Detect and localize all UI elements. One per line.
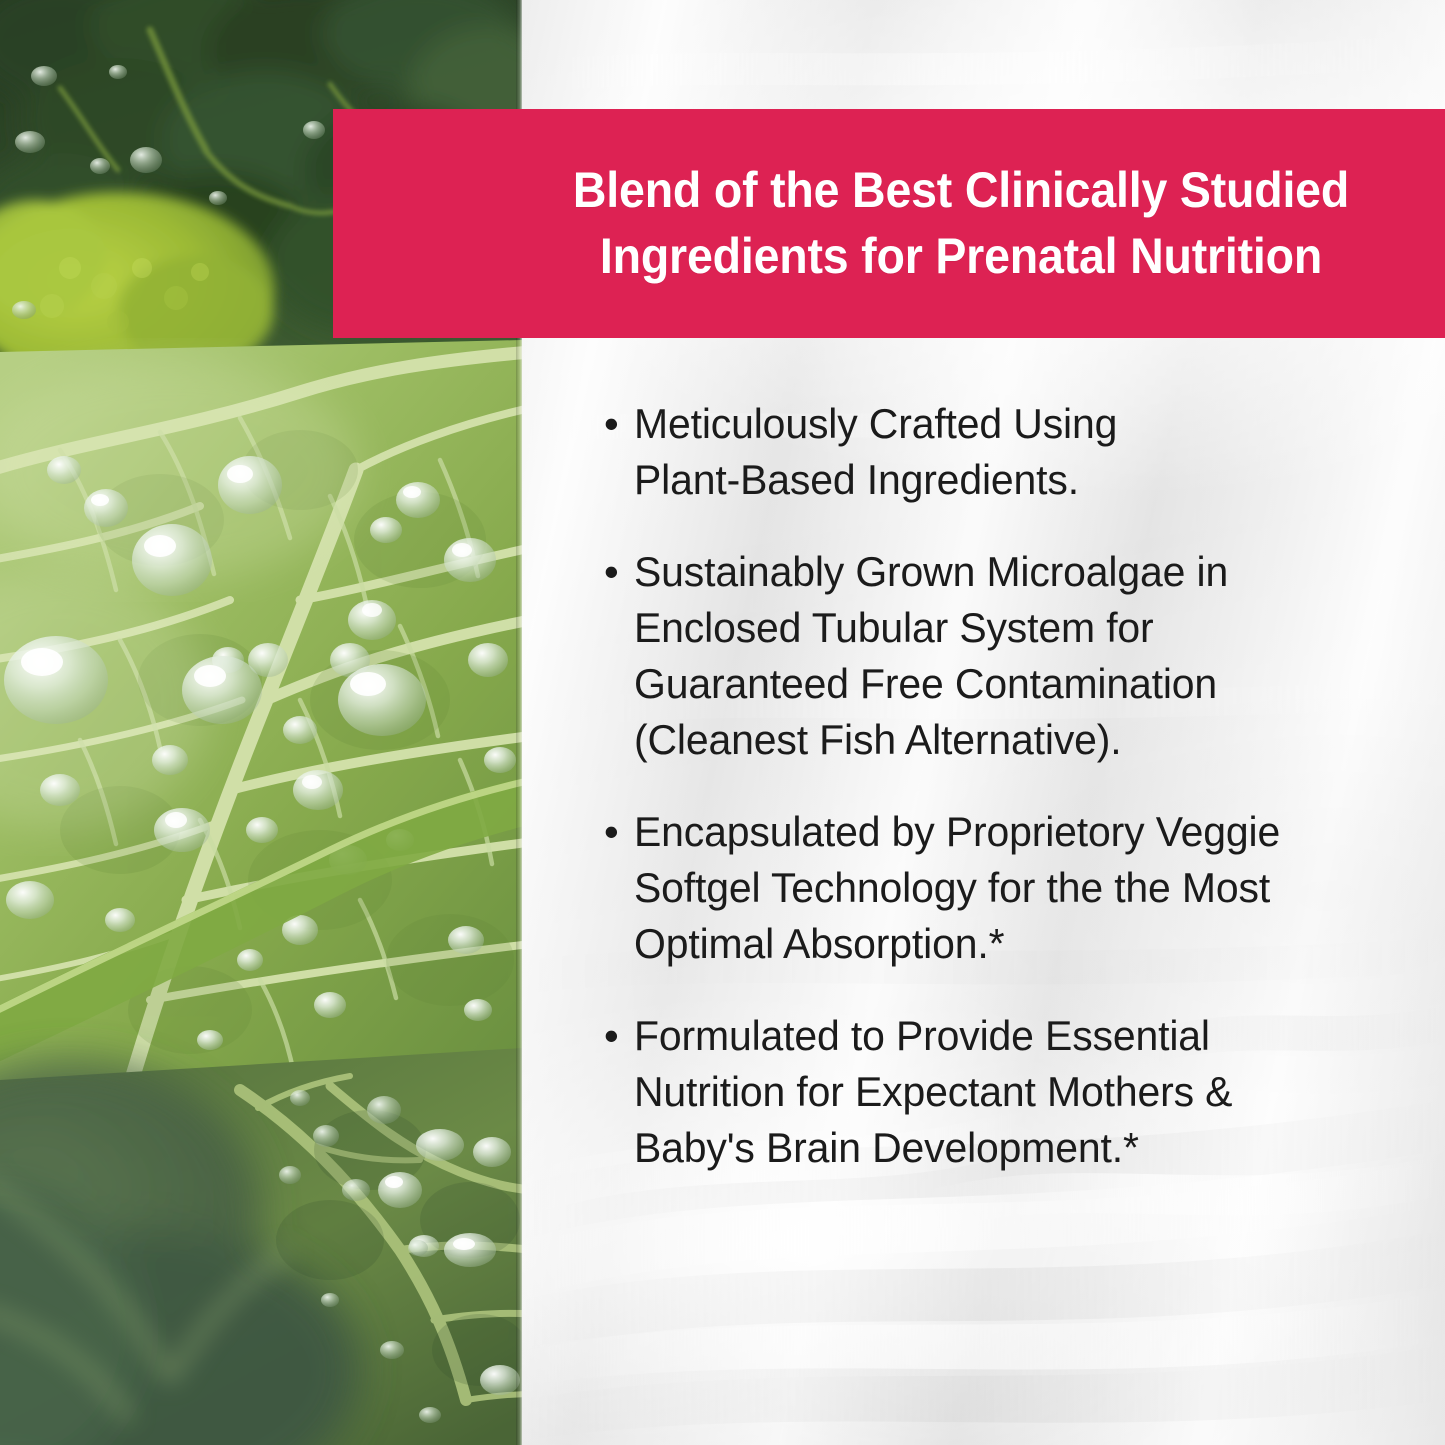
list-item-text: Encapsulated by Proprietory Veggie Softg… xyxy=(634,804,1385,972)
headline-banner: Blend of the Best Clinically Studied Ing… xyxy=(333,109,1445,338)
infographic-canvas: Blend of the Best Clinically Studied Ing… xyxy=(0,0,1445,1445)
bullet-marker-icon: • xyxy=(604,804,634,860)
list-item-text: Sustainably Grown Microalgae in Enclosed… xyxy=(634,544,1385,768)
list-item: • Encapsulated by Proprietory Veggie Sof… xyxy=(604,804,1404,972)
bullet-marker-icon: • xyxy=(604,1008,634,1064)
bullet-marker-icon: • xyxy=(604,396,634,452)
headline-title: Blend of the Best Clinically Studied Ing… xyxy=(552,158,1370,289)
list-item: • Sustainably Grown Microalgae in Enclos… xyxy=(604,544,1404,768)
list-item: • Formulated to Provide Essential Nutrit… xyxy=(604,1008,1404,1176)
benefits-bullet-list: • Meticulously Crafted Using Plant-Based… xyxy=(604,396,1404,1176)
list-item: • Meticulously Crafted Using Plant-Based… xyxy=(604,396,1404,508)
bullet-marker-icon: • xyxy=(604,544,634,600)
list-item-text: Meticulously Crafted Using Plant-Based I… xyxy=(634,396,1385,508)
list-item-text: Formulated to Provide Essential Nutritio… xyxy=(634,1008,1385,1176)
